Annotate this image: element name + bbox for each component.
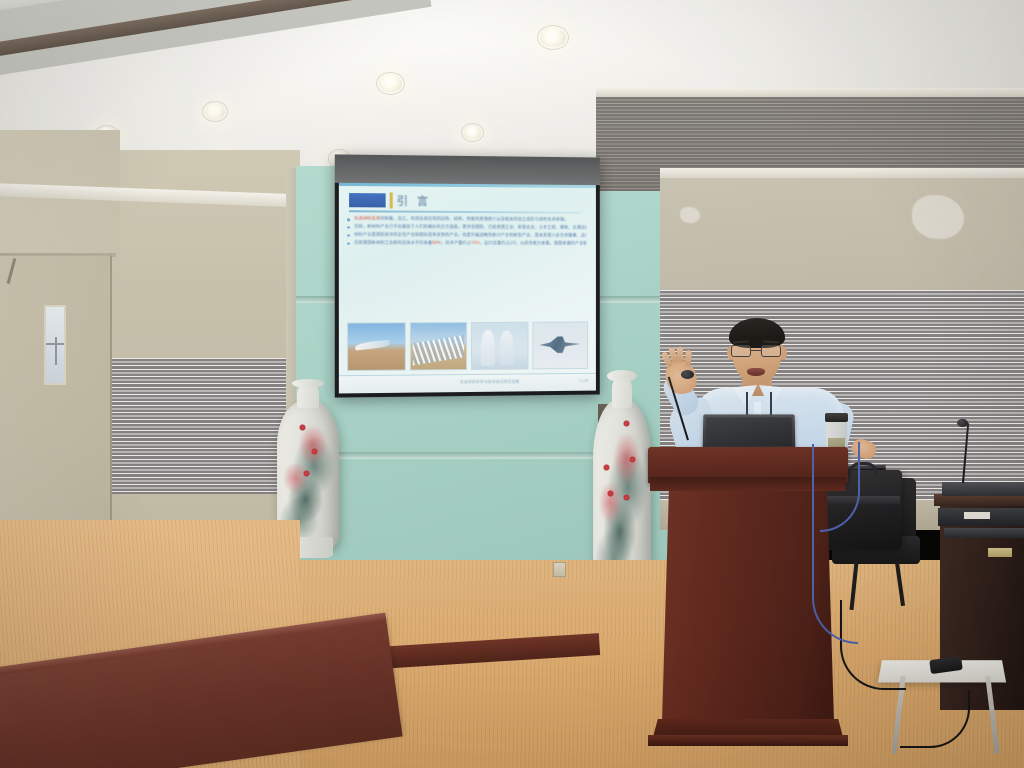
slide-bullet: 先进材料及其的制备、加工、利用及其应用的回热、结构、性能的原理很少以及相关的加工… (347, 215, 586, 222)
slide-bullet-text: 材料产业是国民经济的支柱产业和国际竞争优势的产业，也是升级战略性新兴产业的新型产… (354, 231, 586, 237)
slide-text-run: ，出口总量约占1/3，从综合能力来看，我国关键的产业链上游结构、产值规模、推广产… (480, 240, 586, 246)
vase-flower (299, 424, 306, 431)
slide-bullet: 目前我国新材料工业新的总体水平仍有着50%，技术产量约占70%，出口总量约占1/… (347, 239, 586, 245)
ceiling-downlight (464, 126, 481, 139)
lecture-hall-photo: 引 言 先进材料及其的制备、加工、利用及其应用的回热、结构、性能的原理很少以及相… (0, 0, 1024, 768)
vase-flower (623, 494, 630, 501)
slide-text-run: 目前，新材料产业已不仅服务于人们的美好的方方面面，更涉及国防、已经渗透工业、农牧… (354, 223, 586, 230)
hypersonic-vehicle-image (347, 322, 405, 371)
slide-text-run: ，技术产量约占 (441, 240, 471, 245)
fighter-jet-image (532, 321, 588, 369)
lectern-body (662, 491, 834, 723)
slide-title-row: 引 言 (349, 193, 578, 211)
vase-flower (629, 456, 636, 463)
wall-rail-upper (596, 88, 1024, 97)
downlight-ring (376, 72, 405, 95)
downlight-ring (461, 123, 484, 142)
slide-bullet-list: 先进材料及其的制备、加工、利用及其应用的回热、结构、性能的原理很少以及相关的加工… (347, 215, 586, 248)
av-rack-unit (942, 482, 1024, 496)
ceiling-downlight (205, 104, 225, 119)
ceiling-downlight (379, 75, 402, 92)
laptop[interactable] (703, 414, 796, 449)
vase-flower (607, 490, 614, 497)
wall-rail (660, 168, 1024, 178)
slide-text-run: 70% (471, 240, 480, 245)
slide-bullet-text: 目前我国新材料工业新的总体水平仍有着50%，技术产量约占70%，出口总量约占1/… (354, 239, 586, 245)
eyeglass-bridge (751, 350, 761, 351)
vase-lip (607, 370, 637, 382)
exit-door[interactable] (0, 255, 112, 555)
downlight-ring (202, 101, 228, 122)
bullet-dot-icon (347, 226, 350, 229)
laptop-screen (706, 417, 793, 446)
cleanroom-workers-image (471, 322, 528, 370)
production-line-image (409, 322, 467, 371)
door-window (44, 305, 66, 385)
slide-bullet-text: 目前，新材料产业已不仅服务于人们的美好的方方面面，更涉及国防、已经渗透工业、农牧… (354, 223, 586, 230)
av-rack-unit (944, 528, 1024, 538)
slide-text-run: 的制备、加工、利用及其应用的回热、结构、性能的原理很少以及相关的加工成形与改性技… (380, 215, 568, 221)
slide-text-run: 50% (432, 240, 441, 245)
vase-flower (303, 470, 310, 477)
finger (685, 350, 692, 366)
slide-title-gold-bar (390, 192, 393, 208)
wall-tape-patch (912, 195, 964, 239)
vase-flower (311, 448, 318, 455)
bullet-dot-icon (347, 234, 350, 237)
door-window-mullion-v (55, 337, 57, 365)
finger (677, 346, 685, 363)
slide-text-run: 目前我国新材料工业新的总体水平仍有着 (354, 239, 432, 244)
vase-flower (623, 420, 630, 427)
slide-page-number: 1 / 28 (579, 379, 588, 383)
eyeglass-lens (761, 345, 781, 357)
slide-title: 引 言 (397, 192, 431, 208)
floor-outlet (553, 562, 566, 577)
presentation-slide: 引 言 先进材料及其的制备、加工、利用及其应用的回热、结构、性能的原理很少以及相… (339, 183, 596, 394)
presenter-hair (729, 318, 785, 348)
slide-bullet-text: 先进材料及其的制备、加工、利用及其应用的回热、结构、性能的原理很少以及相关的加工… (354, 215, 586, 222)
eyeglasses-icon (731, 345, 783, 357)
slide-text-run: 材料产业是国民经济的支柱产业和国际竞争优势的产业，也是升级战略性新兴产业的新型产… (354, 231, 586, 237)
wall-tape-patch (680, 207, 700, 223)
slide-footer-text: 先进材料科学与技术前沿研究进展 (460, 379, 519, 385)
ceiling-downlight (540, 28, 566, 47)
slide-title-underline (349, 210, 580, 213)
projection-screen: 引 言 先进材料及其的制备、加工、利用及其应用的回热、结构、性能的原理很少以及相… (335, 154, 600, 397)
vase-flower (603, 464, 610, 471)
slide-bullet: 材料产业是国民经济的支柱产业和国际竞争优势的产业，也是升级战略性新兴产业的新型产… (347, 231, 586, 237)
slide-bullet: 目前，新材料产业已不仅服务于人们的美好的方方面面，更涉及国防、已经渗透工业、农牧… (347, 223, 586, 230)
slide-title-box-icon (349, 193, 386, 207)
eyeglass-lens (731, 345, 751, 357)
bullet-dot-icon (347, 218, 350, 221)
slide-text-run: 先进材料及其 (354, 215, 380, 220)
lectern-plinth (648, 735, 848, 746)
bottle-cap (825, 413, 848, 422)
screen-header-bar (335, 154, 600, 185)
slide-image-strip (347, 321, 588, 371)
av-label-tag (988, 548, 1012, 557)
slide-footer: 先进材料科学与技术前沿研究进展 1 / 28 (339, 373, 596, 394)
bullet-dot-icon (347, 242, 350, 245)
microphone-icon (957, 419, 968, 427)
downlight-ring (537, 25, 569, 50)
vase-lip (292, 379, 324, 388)
presenter-mouth (747, 368, 765, 376)
microphone-icon (681, 370, 694, 379)
av-label-tag (964, 512, 990, 519)
